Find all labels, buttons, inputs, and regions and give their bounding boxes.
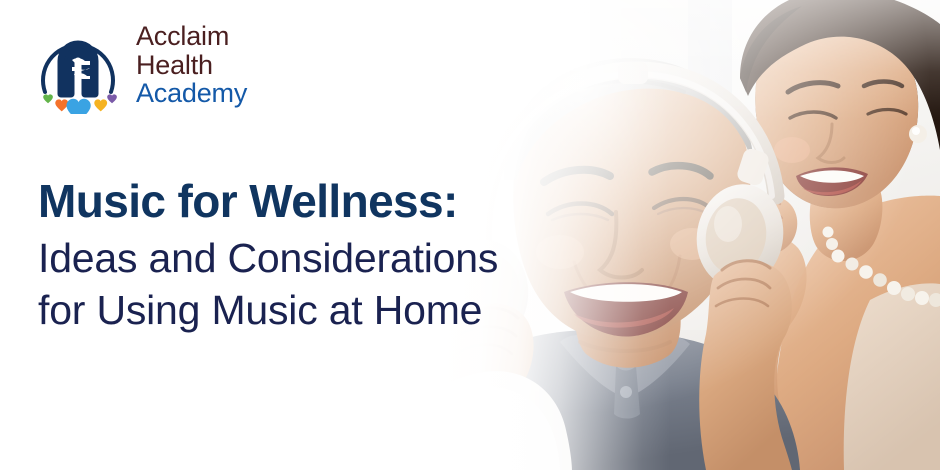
headline-line-1: Music for Wellness: <box>38 178 598 224</box>
brand-logo[interactable]: Acclaim Health Academy <box>34 16 247 114</box>
heart-green <box>43 94 53 103</box>
headline-line-2: Ideas and Considerations <box>38 232 598 284</box>
logo-mark-svg <box>34 16 122 114</box>
heart-purple <box>107 94 117 103</box>
brand-wordmark: Acclaim Health Academy <box>136 22 247 108</box>
heart-yellow <box>94 99 107 111</box>
wordmark-line-acclaim: Acclaim <box>136 22 247 51</box>
acclaim-health-academy-logo-icon <box>34 16 122 114</box>
logo-hearts <box>43 94 117 114</box>
wordmark-line-academy: Academy <box>136 79 247 108</box>
headline-block: Music for Wellness: Ideas and Considerat… <box>38 178 598 337</box>
promo-banner: Acclaim Health Academy Music for Wellnes… <box>0 0 940 470</box>
wordmark-line-health: Health <box>136 51 247 80</box>
heart-orange <box>55 99 68 111</box>
heart-blue <box>66 99 90 114</box>
headline-line-3: for Using Music at Home <box>38 284 598 336</box>
